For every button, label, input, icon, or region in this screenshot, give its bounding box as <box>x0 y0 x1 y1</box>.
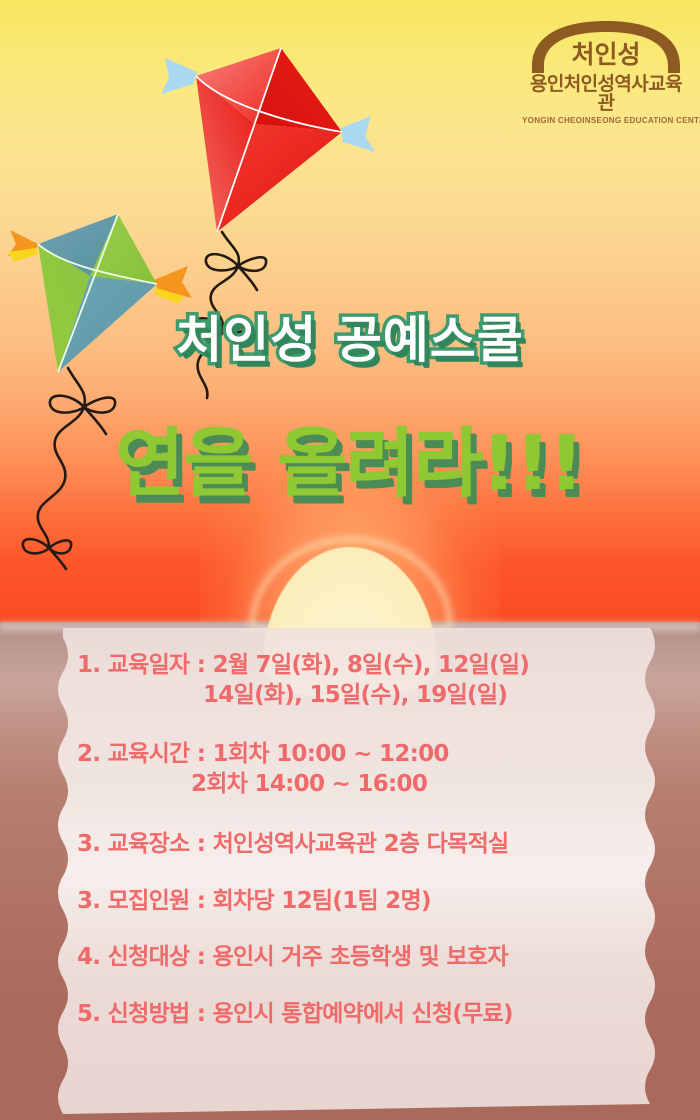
info-row-line2: 2회차 14:00 ~ 16:00 <box>63 769 650 799</box>
info-row-eligibility: 4. 신청대상 : 용인시 거주 초등학생 및 보호자 <box>63 942 650 972</box>
info-row-line1: 1. 교육일자 : 2월 7일(화), 8일(수), 12일(일) <box>63 650 650 680</box>
info-row-line1: 3. 교육장소 : 처인성역사교육관 2층 다목적실 <box>63 829 650 859</box>
info-row-education-place: 3. 교육장소 : 처인성역사교육관 2층 다목적실 <box>63 829 650 859</box>
info-row-how-to-apply: 5. 신청방법 : 용인시 통합예약에서 신청(무료) <box>63 999 650 1029</box>
info-row-education-time: 2. 교육시간 : 1회차 10:00 ~ 12:00 2회차 14:00 ~ … <box>63 739 650 800</box>
info-list: 1. 교육일자 : 2월 7일(화), 8일(수), 12일(일) 14일(화)… <box>63 624 650 1120</box>
page-title: 처인성 공예스쿨 <box>0 300 700 372</box>
page-subtitle: 연을 올려라!!! <box>0 404 700 511</box>
poster: 처인성 용인처인성역사교육관 YONGIN CHEOINSEONG EDUCAT… <box>0 0 700 1120</box>
info-row-line1: 3. 모집인원 : 회차당 12팀(1팀 2명) <box>63 886 650 916</box>
info-row-line2: 14일(화), 15일(수), 19일(일) <box>63 680 650 710</box>
info-row-capacity: 3. 모집인원 : 회차당 12팀(1팀 2명) <box>63 886 650 916</box>
info-row-line1: 4. 신청대상 : 용인시 거주 초등학생 및 보호자 <box>63 942 650 972</box>
info-row-education-date: 1. 교육일자 : 2월 7일(화), 8일(수), 12일(일) 14일(화)… <box>63 650 650 711</box>
info-row-line1: 2. 교육시간 : 1회차 10:00 ~ 12:00 <box>63 739 650 769</box>
info-row-line1: 5. 신청방법 : 용인시 통합예약에서 신청(무료) <box>63 999 650 1029</box>
